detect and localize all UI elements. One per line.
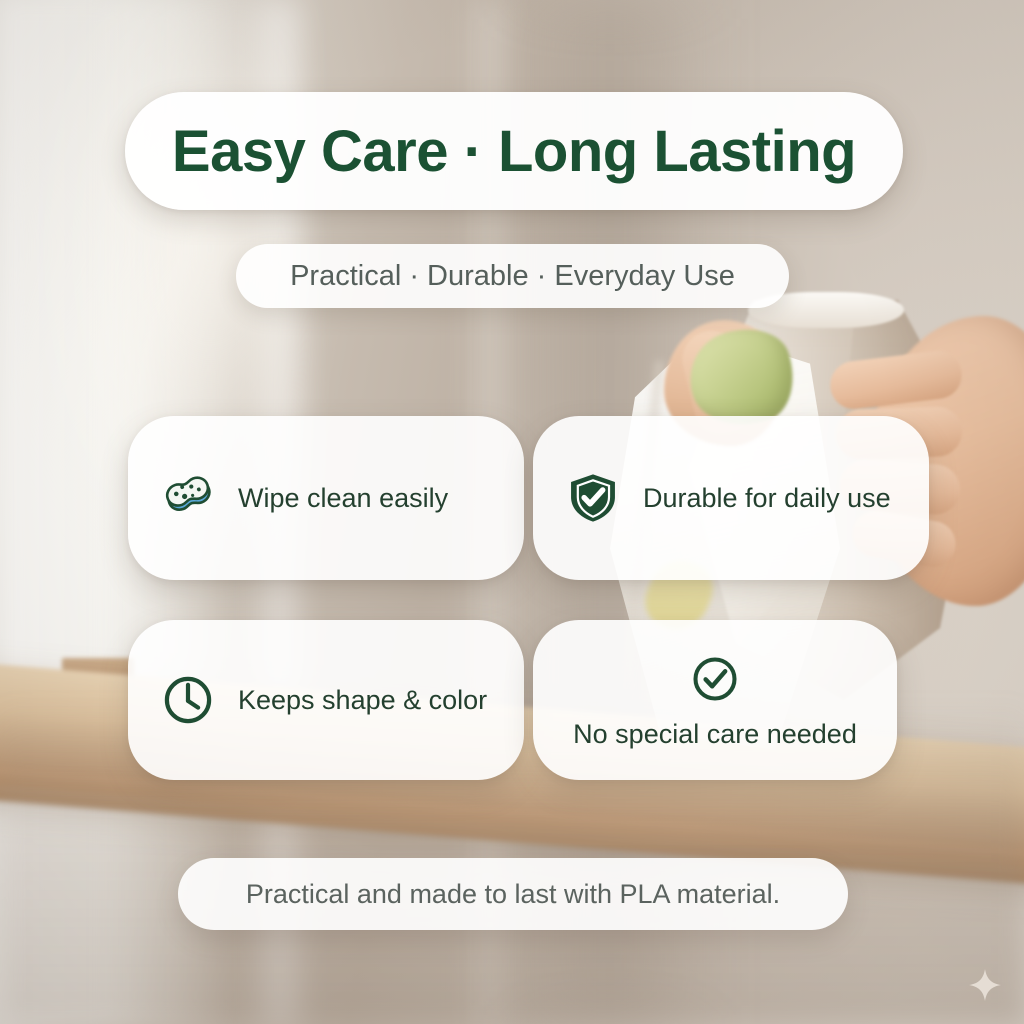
feature-label: Keeps shape & color xyxy=(238,685,487,716)
footer-text: Practical and made to last with PLA mate… xyxy=(246,879,780,910)
feature-card-no-special-care[interactable]: No special care needed xyxy=(533,620,897,780)
title-banner: Easy Care · Long Lasting xyxy=(125,92,903,210)
sparkle-icon xyxy=(968,968,1002,1002)
promo-graphic: Easy Care · Long Lasting Practical · Dur… xyxy=(0,0,1024,1024)
content-overlay: Easy Care · Long Lasting Practical · Dur… xyxy=(0,0,1024,1024)
sponge-icon xyxy=(160,470,216,526)
page-title: Easy Care · Long Lasting xyxy=(172,118,856,185)
feature-card-durable[interactable]: Durable for daily use xyxy=(533,416,929,580)
shield-check-icon xyxy=(565,470,621,526)
feature-card-keeps-shape[interactable]: Keeps shape & color xyxy=(128,620,524,780)
page-subtitle: Practical · Durable · Everyday Use xyxy=(290,260,735,293)
subtitle-banner: Practical · Durable · Everyday Use xyxy=(236,244,789,308)
footer-banner: Practical and made to last with PLA mate… xyxy=(178,858,848,930)
feature-label: No special care needed xyxy=(573,719,857,750)
feature-card-wipe-clean[interactable]: Wipe clean easily xyxy=(128,416,524,580)
check-circle-icon xyxy=(687,651,743,707)
feature-label: Wipe clean easily xyxy=(238,483,448,514)
feature-label: Durable for daily use xyxy=(643,483,891,514)
clock-icon xyxy=(160,672,216,728)
